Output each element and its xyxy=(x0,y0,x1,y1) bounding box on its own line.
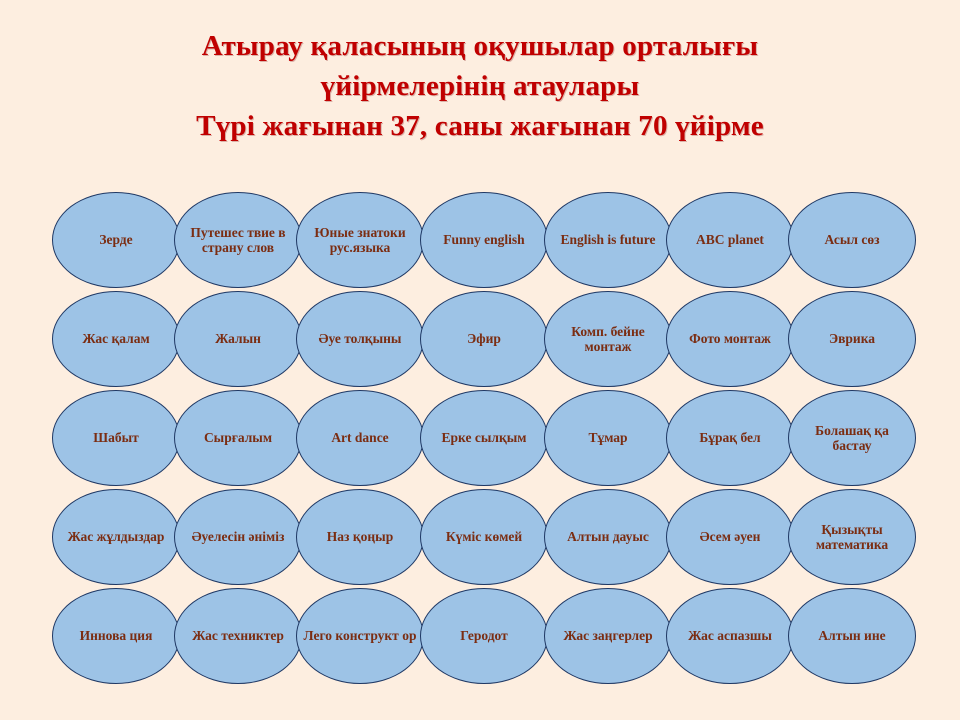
bubble-label: Жас аспазшы xyxy=(673,628,787,644)
bubble-label: Путешес твие в страну слов xyxy=(181,225,295,256)
bubble-item[interactable]: Наз қоңыр xyxy=(296,489,424,585)
bubble-label: Эврика xyxy=(795,331,909,347)
bubble-row: Зерде Путешес твие в страну слов Юные зн… xyxy=(52,192,918,291)
bubble-item[interactable]: Эфир xyxy=(420,291,548,387)
bubble-label: Алтын ине xyxy=(795,628,909,644)
bubble-item[interactable]: ABC planet xyxy=(666,192,794,288)
bubble-item[interactable]: Әсем әуен xyxy=(666,489,794,585)
bubble-row: Жас қалам Жалын Әуе толқыны Эфир Комп. б… xyxy=(52,291,918,390)
bubble-item[interactable]: Зерде xyxy=(52,192,180,288)
bubble-label: Art dance xyxy=(303,430,417,446)
bubble-label: Жас жұлдыздар xyxy=(59,529,173,545)
bubble-label: Қызықты математика xyxy=(795,522,909,553)
bubble-label: Бұрақ бел xyxy=(673,430,787,446)
bubble-label: Геродот xyxy=(427,628,541,644)
bubble-label: Әуе толқыны xyxy=(303,331,417,347)
bubble-label: Асыл сөз xyxy=(795,232,909,248)
bubble-label: Комп. бейне монтаж xyxy=(551,324,665,355)
bubble-label: Иннова ция xyxy=(59,628,173,644)
bubble-label: Тұмар xyxy=(551,430,665,446)
bubble-label: Жас заңгерлер xyxy=(551,628,665,644)
bubble-item[interactable]: Асыл сөз xyxy=(788,192,916,288)
bubble-item[interactable]: Жас заңгерлер xyxy=(544,588,672,684)
bubble-item[interactable]: Алтын дауыс xyxy=(544,489,672,585)
bubble-item[interactable]: Жас қалам xyxy=(52,291,180,387)
bubble-item[interactable]: Жас жұлдыздар xyxy=(52,489,180,585)
bubble-label: Наз қоңыр xyxy=(303,529,417,545)
bubble-item[interactable]: Сырғалым xyxy=(174,390,302,486)
bubble-label: ABC planet xyxy=(673,232,787,248)
bubble-item[interactable]: Эврика xyxy=(788,291,916,387)
bubble-item[interactable]: Funny english xyxy=(420,192,548,288)
bubble-label: Күміс көмей xyxy=(427,529,541,545)
title-line-1: Атырау қаласының оқушылар орталығы xyxy=(0,26,960,66)
bubble-item[interactable]: Комп. бейне монтаж xyxy=(544,291,672,387)
bubble-row: Шабыт Сырғалым Art dance Ерке сылқым Тұм… xyxy=(52,390,918,489)
bubble-item[interactable]: Әуелесін әніміз xyxy=(174,489,302,585)
bubble-item[interactable]: Қызықты математика xyxy=(788,489,916,585)
bubble-label: Зерде xyxy=(59,232,173,248)
slide: Атырау қаласының оқушылар орталығы үйірм… xyxy=(0,0,960,720)
title-line-2: үйірмелерінің атаулары xyxy=(0,66,960,106)
bubble-item[interactable]: English is future xyxy=(544,192,672,288)
bubble-label: Сырғалым xyxy=(181,430,295,446)
bubble-item[interactable]: Әуе толқыны xyxy=(296,291,424,387)
bubble-label: Алтын дауыс xyxy=(551,529,665,545)
bubble-item[interactable]: Art dance xyxy=(296,390,424,486)
bubble-item[interactable]: Иннова ция xyxy=(52,588,180,684)
bubble-item[interactable]: Геродот xyxy=(420,588,548,684)
bubble-item[interactable]: Фото монтаж xyxy=(666,291,794,387)
bubble-row: Иннова ция Жас техниктер Лего конструкт … xyxy=(52,588,918,687)
bubble-item[interactable]: Жалын xyxy=(174,291,302,387)
bubble-item[interactable]: Болашақ қа бастау xyxy=(788,390,916,486)
bubble-item[interactable]: Юные знатоки рус.языка xyxy=(296,192,424,288)
bubble-label: Жас қалам xyxy=(59,331,173,347)
bubble-label: Әуелесін әніміз xyxy=(181,529,295,545)
bubble-label: Әсем әуен xyxy=(673,529,787,545)
bubble-label: Жас техниктер xyxy=(181,628,295,644)
bubble-label: Ерке сылқым xyxy=(427,430,541,446)
bubble-item[interactable]: Тұмар xyxy=(544,390,672,486)
bubble-label: Funny english xyxy=(427,232,541,248)
bubble-label: Юные знатоки рус.языка xyxy=(303,225,417,256)
bubble-item[interactable]: Бұрақ бел xyxy=(666,390,794,486)
page-title: Атырау қаласының оқушылар орталығы үйірм… xyxy=(0,26,960,146)
bubble-item[interactable]: Ерке сылқым xyxy=(420,390,548,486)
bubble-item[interactable]: Шабыт xyxy=(52,390,180,486)
bubble-grid: Зерде Путешес твие в страну слов Юные зн… xyxy=(52,192,918,698)
bubble-item[interactable]: Алтын ине xyxy=(788,588,916,684)
bubble-label: Эфир xyxy=(427,331,541,347)
title-line-3: Түрі жағынан 37, саны жағынан 70 үйірме xyxy=(0,106,960,146)
bubble-item[interactable]: Жас техниктер xyxy=(174,588,302,684)
bubble-label: Шабыт xyxy=(59,430,173,446)
bubble-label: Болашақ қа бастау xyxy=(795,423,909,454)
bubble-label: Фото монтаж xyxy=(673,331,787,347)
bubble-label: English is future xyxy=(551,232,665,248)
bubble-item[interactable]: Жас аспазшы xyxy=(666,588,794,684)
bubble-row: Жас жұлдыздар Әуелесін әніміз Наз қоңыр … xyxy=(52,489,918,588)
bubble-item[interactable]: Лего конструкт ор xyxy=(296,588,424,684)
bubble-label: Лего конструкт ор xyxy=(303,628,417,644)
bubble-item[interactable]: Путешес твие в страну слов xyxy=(174,192,302,288)
bubble-item[interactable]: Күміс көмей xyxy=(420,489,548,585)
bubble-label: Жалын xyxy=(181,331,295,347)
